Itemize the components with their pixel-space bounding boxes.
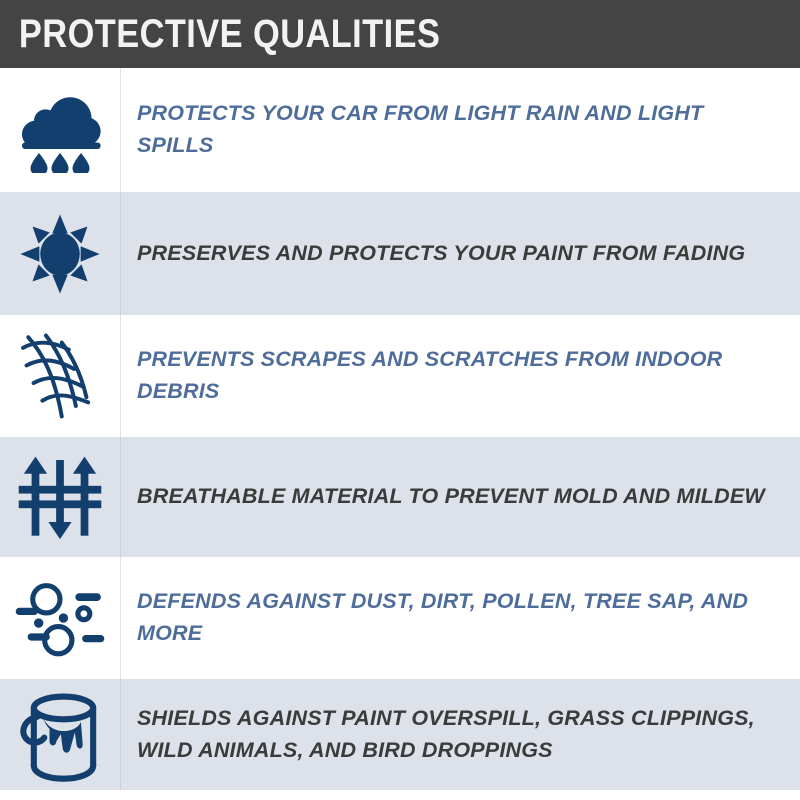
icon-cell [0,679,120,790]
feature-row-paint: SHIELDS AGAINST PAINT OVERSPILL, GRASS C… [0,679,800,790]
icon-cell [0,68,120,192]
dust-particles-icon [14,575,106,661]
feature-text: PROTECTS YOUR CAR FROM LIGHT RAIN AND LI… [137,98,782,162]
page-title: PROTECTIVE QUALITIES [0,14,440,54]
text-cell: PRESERVES AND PROTECTS YOUR PAINT FROM F… [121,192,800,315]
breathable-airflow-icon [17,453,103,541]
rain-cloud-icon [17,87,103,173]
feature-text: SHIELDS AGAINST PAINT OVERSPILL, GRASS C… [137,703,782,767]
feature-row-sun: PRESERVES AND PROTECTS YOUR PAINT FROM F… [0,192,800,315]
icon-cell [0,437,120,557]
feature-list: PROTECTS YOUR CAR FROM LIGHT RAIN AND LI… [0,68,800,790]
feature-row-mesh: PREVENTS SCRAPES AND SCRATCHES FROM INDO… [0,315,800,437]
text-cell: PROTECTS YOUR CAR FROM LIGHT RAIN AND LI… [121,68,800,192]
header-bar: PROTECTIVE QUALITIES [0,0,800,68]
mesh-weave-icon [16,330,104,422]
bottom-strip [0,790,800,800]
paint-can-icon [18,687,102,783]
feature-text: PREVENTS SCRAPES AND SCRATCHES FROM INDO… [137,344,782,408]
icon-cell [0,192,120,315]
icon-cell [0,315,120,437]
feature-text: DEFENDS AGAINST DUST, DIRT, POLLEN, TREE… [137,586,782,650]
icon-cell [0,557,120,679]
text-cell: PREVENTS SCRAPES AND SCRATCHES FROM INDO… [121,315,800,437]
sun-icon [17,211,103,297]
text-cell: DEFENDS AGAINST DUST, DIRT, POLLEN, TREE… [121,557,800,679]
text-cell: SHIELDS AGAINST PAINT OVERSPILL, GRASS C… [121,679,800,790]
feature-row-dust: DEFENDS AGAINST DUST, DIRT, POLLEN, TREE… [0,557,800,679]
feature-row-rain: PROTECTS YOUR CAR FROM LIGHT RAIN AND LI… [0,68,800,192]
feature-text: PRESERVES AND PROTECTS YOUR PAINT FROM F… [137,238,745,270]
text-cell: BREATHABLE MATERIAL TO PREVENT MOLD AND … [121,437,800,557]
feature-row-breathable: BREATHABLE MATERIAL TO PREVENT MOLD AND … [0,437,800,557]
protective-qualities-infographic: PROTECTIVE QUALITIES PROTECTS YOUR CAR F… [0,0,800,800]
feature-text: BREATHABLE MATERIAL TO PREVENT MOLD AND … [137,481,765,513]
